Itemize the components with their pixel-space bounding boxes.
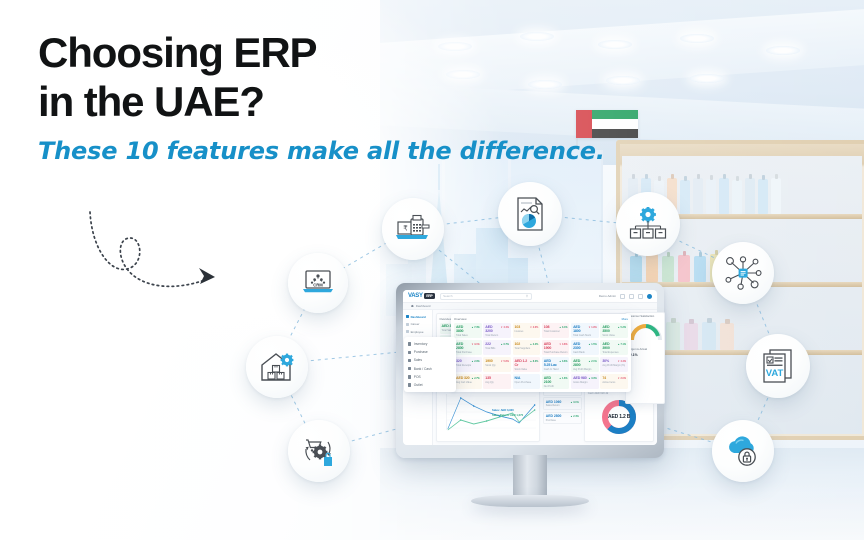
kpi-label: Total Customer	[544, 330, 568, 333]
kpi-card[interactable]: 1900▼ 5.6%Stock Qty	[483, 357, 511, 372]
monitor-stand-neck	[513, 455, 547, 499]
kpi-card[interactable]: AED 980▲ 3.3%Gross Margin	[571, 374, 599, 389]
donut-center-label: AED 1.2 B	[608, 414, 630, 420]
module-menu-item[interactable]: Outlet	[404, 381, 456, 389]
module-menu-item[interactable]: Bank / Cash	[404, 365, 456, 373]
search-input[interactable]: Search ⚲	[440, 293, 532, 300]
feature-bubble-procurement[interactable]	[288, 420, 350, 482]
kpi-card[interactable]: AED 1.2 Cr▲ 8.3%Stock Value	[513, 357, 541, 372]
dashboard-icon	[406, 315, 409, 318]
app-logo-badge: ERP	[424, 293, 434, 299]
summary-card-delta: ▲ 3.1%	[570, 401, 578, 404]
kpi-value: 102	[515, 342, 521, 346]
settings-icon[interactable]	[638, 294, 643, 299]
kpi-value: AED 2800	[456, 342, 470, 350]
kpi-delta: ▲ 6.7%	[500, 343, 508, 346]
summary-card-delta: ▲ 2.4%	[570, 415, 578, 418]
kpi-card[interactable]: AED 1800▼ 1.9%Total Cash Stock	[571, 323, 599, 338]
line-chart-plot: Sales: AED 3,900 Sales Return: AED 1,070	[440, 392, 537, 434]
kpi-card[interactable]: AED 320▲ 2.7%Avg Cart Value	[454, 374, 482, 389]
kpi-card[interactable]: AED 2100▲ 1.8%Net Profit	[542, 374, 570, 389]
kpi-label: Total Sales	[456, 334, 480, 337]
kpi-value: AED 1.2 Cr	[515, 359, 529, 367]
sidebar-item-dashboard[interactable]: Dashboard	[403, 313, 432, 321]
kpi-value: AED 1900	[544, 342, 558, 350]
kpi-value: 222	[485, 342, 491, 346]
sidebar-item-label: Employee	[411, 330, 424, 334]
kpi-card[interactable]: 30%▼ 4.4%Avg Profit Margin (%)	[600, 357, 628, 372]
kpi-value: 320	[456, 359, 462, 363]
module-menu-label: Outlet	[414, 383, 423, 387]
subheadline: These 10 features make all the differenc…	[38, 137, 605, 165]
pos-icon	[408, 375, 411, 378]
summary-card[interactable]: AED 1060▲ 3.1%Sales Return	[543, 397, 582, 410]
kpi-card[interactable]: 108▲ 3.4%Total Customer	[542, 323, 570, 338]
gauge-svg	[628, 320, 664, 344]
kpi-value: N/A	[515, 376, 521, 380]
sidebar-item-label: Dashboard	[411, 315, 426, 319]
cloud-lock-icon	[725, 435, 761, 467]
kpi-card[interactable]: 103▼ 2.6%Invoices	[513, 323, 541, 338]
kpi-delta: ▲ 3.3%	[588, 377, 596, 380]
kpi-delta: ▲ 5.2%	[618, 326, 626, 329]
module-menu-label: Purchase	[414, 350, 428, 354]
kpi-delta: ▼ 3.1%	[471, 343, 479, 346]
customer-satisfaction-gauge: Customer Satisfaction Target vs Actual 9…	[625, 312, 665, 404]
cart-icon	[408, 351, 411, 354]
kpi-label: Active Items	[602, 381, 626, 384]
kpi-card[interactable]: AED 5.25 Lac▲ 3.8%Cash In Hand	[542, 357, 570, 372]
kpi-label: Cash In Hand	[544, 368, 568, 371]
kpi-label: Total Receipts	[456, 364, 480, 367]
breadcrumb: ☗ Dashboard	[403, 303, 657, 310]
kpi-value: AED 3200	[485, 325, 499, 333]
kpi-delta: ▲ 2.9%	[471, 360, 479, 363]
kpi-delta: ▲ 2.7%	[471, 377, 479, 380]
kpi-value: AED 2800	[573, 359, 587, 367]
laptop-crm-icon: CRM	[301, 268, 335, 298]
kpi-delta: ▼ 2.6%	[530, 326, 538, 329]
feature-bubble-automation[interactable]	[616, 192, 680, 256]
kpi-card[interactable]: 135Avg Qty	[483, 374, 511, 389]
kpi-delta: ▲ 2.1%	[588, 360, 596, 363]
feature-bubble-vat[interactable]: VAT	[746, 334, 810, 398]
breadcrumb-label[interactable]: Dashboard	[416, 304, 431, 308]
feature-bubble-crm[interactable]: CRM	[288, 253, 348, 313]
kpi-delta: ▼ 4.8%	[559, 343, 567, 346]
overlay-card-header: Overview More	[454, 317, 628, 321]
kpi-value: AED 2300	[573, 342, 587, 350]
svg-text:VAT: VAT	[766, 368, 784, 379]
topbar-actions: Demo Admin	[599, 294, 652, 299]
overlay-kpi-grid: AED 3800▲ 7.3%Total SalesAED 3200▼ 4.1%T…	[454, 323, 628, 389]
kpi-label: Total Bills	[485, 347, 509, 350]
kpi-card[interactable]: AED 3800▲ 7.3%Total Sales	[454, 323, 482, 338]
svg-text:CRM: CRM	[313, 282, 323, 287]
kpi-card[interactable]: N/AOpen Purchase	[513, 374, 541, 389]
module-menu-label: Bank / Cash	[414, 367, 432, 371]
summary-card-label: Sales Return	[546, 404, 579, 407]
feature-bubble-billing[interactable]: ₹	[382, 198, 444, 260]
kpi-label: Stock Value	[602, 334, 626, 337]
avatar[interactable]	[647, 294, 652, 299]
kpi-label: Total Purchase	[456, 351, 480, 354]
kpi-card[interactable]: 102▲ 2.2%Total Suppliers	[513, 340, 541, 355]
kpi-card[interactable]: AED 1900▼ 4.8%Total Purchase Return	[542, 340, 570, 355]
home-icon: ☗	[411, 304, 414, 308]
summary-card-label: Purchase	[546, 419, 579, 422]
kpi-value: 1900	[485, 359, 492, 363]
network-hub-icon	[724, 254, 762, 292]
kpi-value: 135	[485, 376, 491, 380]
store-icon	[408, 383, 411, 386]
kpi-value: 108	[544, 325, 550, 329]
kpi-delta: ▲ 1.5%	[588, 343, 596, 346]
kpi-value: AED 320	[456, 376, 470, 380]
kpi-delta: ▼ 1.9%	[588, 326, 596, 329]
kpi-card[interactable]: AED 2300▲ 1.5%Cash Bank	[571, 340, 599, 355]
search-placeholder: Search	[443, 294, 453, 298]
module-menu-label: POS	[414, 375, 421, 379]
sidebar-item-employee[interactable]: Employee	[403, 328, 432, 336]
headline-line-1: Choosing ERP	[38, 28, 605, 77]
employee-icon	[406, 330, 409, 333]
kpi-value: AED 3900	[602, 342, 616, 350]
kpi-card[interactable]: 74▼ 2.0%Active Items	[600, 374, 628, 389]
kpi-card[interactable]: AED 2800▼ 3.1%Total Purchase	[454, 340, 482, 355]
kpi-delta: ▲ 7.3%	[471, 326, 479, 329]
app-logo-text: VASY	[408, 293, 423, 299]
kpi-label: Cash Bank	[573, 351, 597, 354]
sidebar-item-label: Career	[411, 322, 420, 326]
bank-icon	[408, 367, 411, 370]
kpi-delta: ▲ 1.8%	[559, 377, 567, 380]
gauge-title: Customer Satisfaction	[628, 315, 662, 318]
kpi-card[interactable]: AED 3200▼ 4.1%Total Return	[483, 323, 511, 338]
headline-line-2: in the UAE?	[38, 77, 605, 126]
sidebar-item-career[interactable]: Career	[403, 321, 432, 329]
module-menu-item[interactable]: Inventory	[404, 340, 456, 348]
chart-annotation-sales-return: Sales Return: AED 1,070	[492, 414, 523, 417]
banner-canvas: Choosing ERP in the UAE? These 10 featur…	[0, 0, 864, 540]
kpi-value: AED 3500	[602, 325, 616, 333]
kpi-label: Avg Profit Margin (%)	[602, 364, 626, 367]
gear-orgchart-icon	[629, 207, 667, 241]
kpi-label: Stock Qty	[485, 364, 509, 367]
module-menu-item[interactable]: Sales	[404, 356, 456, 364]
career-icon	[406, 323, 409, 326]
kpi-value: AED 980	[573, 376, 587, 380]
vat-document-icon: VAT	[761, 348, 795, 384]
kpi-label: Open Purchase	[515, 381, 539, 384]
kpi-card[interactable]: AED 3500▲ 5.2%Stock Value	[600, 323, 628, 338]
kpi-delta: ▲ 2.2%	[530, 343, 538, 346]
monitor-stand-base	[471, 495, 589, 507]
kpi-card[interactable]: AED 3900▲ 7.1%Total Expenses	[600, 340, 628, 355]
overlay-title: Overview	[454, 317, 467, 321]
summary-card[interactable]: AED 2800▲ 2.4%Purchase	[543, 412, 582, 425]
kpi-label: Avg Qty	[485, 381, 509, 384]
gauge-value: 92.1%	[628, 353, 662, 357]
kpi-value: AED 1800	[573, 325, 587, 333]
kpi-label: Avg Cart Value	[456, 381, 480, 384]
feature-bubble-integration[interactable]	[712, 242, 774, 304]
svg-text:₹: ₹	[403, 225, 408, 233]
box-icon	[408, 342, 411, 345]
tag-icon	[408, 359, 411, 362]
kpi-label: Invoices	[515, 330, 539, 333]
purchase-cycle-icon	[301, 434, 337, 468]
app-logo[interactable]: VASY ERP	[408, 293, 435, 299]
kpi-card[interactable]: 222▲ 6.7%Total Bills	[483, 340, 511, 355]
feature-bubble-cloud-security[interactable]	[712, 420, 774, 482]
curved-dotted-arrow-icon	[86, 206, 236, 301]
module-menu-label: Inventory	[414, 342, 428, 346]
module-menu-overlay: InventoryPurchaseSalesBank / CashPOSOutl…	[404, 337, 456, 392]
kpi-value: AED 5.25 Lac	[544, 359, 558, 367]
notification-icon[interactable]	[620, 294, 625, 299]
warehouse-gear-icon	[259, 351, 295, 383]
kpi-value: 74	[602, 376, 606, 380]
feature-bubble-inventory[interactable]	[246, 336, 308, 398]
module-menu-label: Sales	[414, 358, 422, 362]
kpi-value: AED 2100	[544, 376, 558, 384]
module-menu-item[interactable]: POS	[404, 373, 456, 381]
kpi-value: AED 3800	[456, 325, 470, 333]
kpi-delta: ▼ 2.0%	[618, 377, 626, 380]
overview-overlay-card: Overview More AED 3800▲ 7.3%Total SalesA…	[451, 314, 631, 392]
kpi-delta: ▲ 7.1%	[618, 343, 626, 346]
summary-card-value: AED 1060	[546, 400, 562, 404]
kpi-label: Total Return	[485, 334, 509, 337]
kpi-label: Total Suppliers	[515, 347, 539, 350]
dashboard-topbar: VASY ERP Search ⚲ Demo Admin	[403, 290, 657, 303]
kpi-label: Gross Margin	[573, 381, 597, 384]
kpi-label: Total Cash Stock	[573, 334, 597, 337]
gauge-subtitle: Target vs Actual	[628, 348, 662, 351]
overlay-more-button[interactable]: More	[622, 317, 628, 321]
module-menu-item[interactable]: Purchase	[404, 348, 456, 356]
billing-machine-icon: ₹	[395, 213, 431, 245]
summary-card-value: AED 2800	[546, 414, 562, 418]
kpi-delta: ▼ 5.6%	[500, 360, 508, 363]
chart-annotation-sales: Sales: AED 3,900	[492, 409, 514, 412]
kpi-card[interactable]: 320▲ 2.9%Total Receipts	[454, 357, 482, 372]
kpi-delta: ▲ 3.8%	[559, 360, 567, 363]
kpi-label: Stock Value	[515, 368, 539, 371]
search-icon: ⚲	[526, 294, 528, 298]
kpi-label: Total Expenses	[602, 351, 626, 354]
analytics-report-icon	[514, 196, 546, 232]
kpi-label: Net Profit	[544, 385, 568, 388]
kpi-value: 30%	[602, 359, 609, 363]
headline-block: Choosing ERP in the UAE? These 10 featur…	[38, 28, 605, 165]
kpi-label: Avg Profit Margin	[573, 368, 597, 371]
kpi-delta: ▼ 4.4%	[618, 360, 626, 363]
kpi-delta: ▲ 3.4%	[559, 326, 567, 329]
feature-bubble-reports[interactable]	[498, 182, 562, 246]
kpi-value: 103	[515, 325, 521, 329]
messages-icon[interactable]	[629, 294, 634, 299]
account-selector[interactable]: Demo Admin	[599, 294, 616, 298]
kpi-delta: ▼ 4.1%	[500, 326, 508, 329]
kpi-label: Total Purchase Return	[544, 351, 568, 354]
kpi-card[interactable]: AED 2800▲ 2.1%Avg Profit Margin	[571, 357, 599, 372]
kpi-delta: ▲ 8.3%	[530, 360, 538, 363]
